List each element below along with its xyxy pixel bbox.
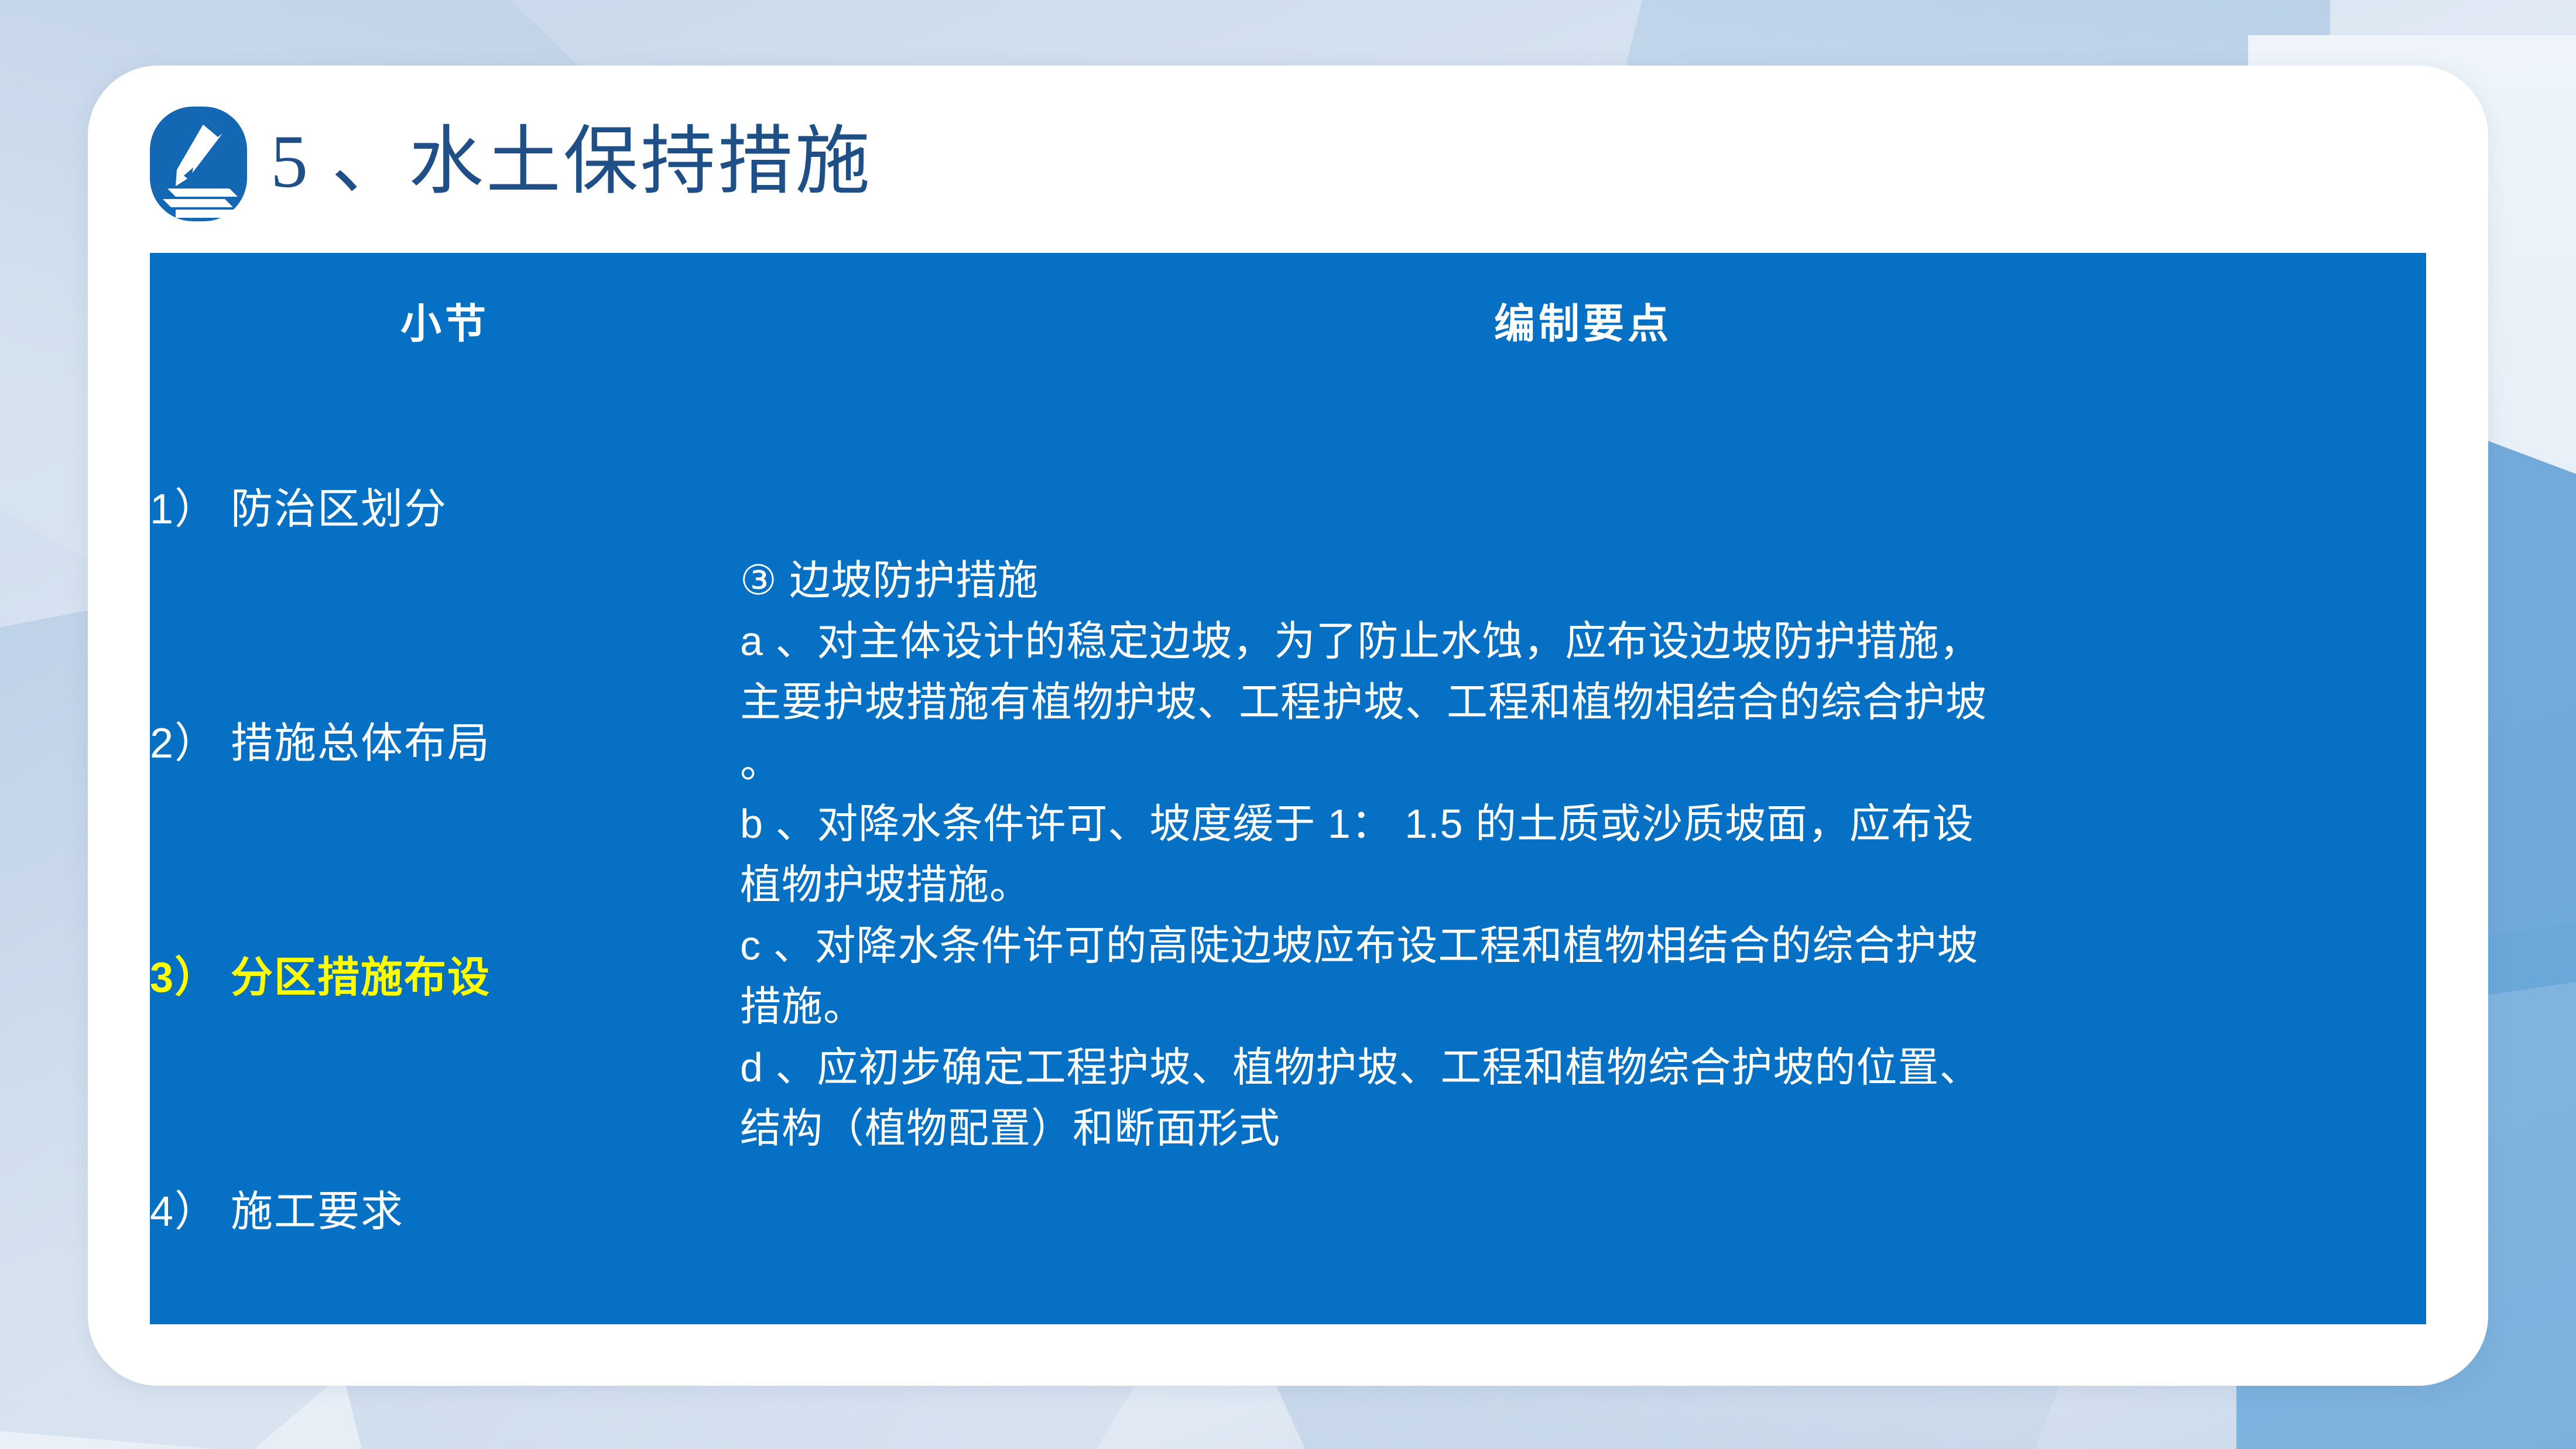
points-line: d 、应初步确定工程护坡、植物护坡、工程和植物综合护坡的位置、: [740, 1039, 2426, 1096]
points-line: a 、对主体设计的稳定边坡，为了防止水蚀，应布设边坡防护措施，: [740, 612, 2426, 670]
points-line: 措施。: [740, 978, 2426, 1035]
points-line: c 、对降水条件许可的高陡边坡应布设工程和植物相结合的综合护坡: [740, 917, 2426, 974]
sidebar-item-fenqucuoshibushe[interactable]: 3） 分区措施布设: [150, 856, 740, 1090]
sidebar-item-shigongyaoqiu[interactable]: 4） 施工要求: [150, 1090, 740, 1324]
page-title: 5 、水土保持措施: [270, 124, 872, 204]
points-table-wrapper: 小节 编制要点 1） 防治区划分 ③ 边坡防护措施 a 、对主体设计的稳定边坡，…: [150, 253, 2426, 1356]
points-table: 小节 编制要点 1） 防治区划分 ③ 边坡防护措施 a 、对主体设计的稳定边坡，…: [150, 253, 2426, 1324]
content-card: 5 、水土保持措施 小节 编制要点 1） 防治区划分 ③ 边坡防护措施: [88, 66, 2488, 1386]
points-line: 植物护坡措施。: [740, 856, 2426, 913]
points-line: 主要护坡措施有植物护坡、工程护坡、工程和植物相结合的综合护坡: [740, 673, 2426, 731]
points-content-cell: ③ 边坡防护措施 a 、对主体设计的稳定边坡，为了防止水蚀，应布设边坡防护措施，…: [740, 388, 2426, 1324]
table-header-row: 小节 编制要点: [150, 253, 2426, 388]
pencil-writing-icon: [150, 107, 247, 221]
points-line: b 、对降水条件许可、坡度缓于 1： 1.5 的土质或沙质坡面，应布设: [740, 795, 2426, 852]
slide-title-row: 5 、水土保持措施: [150, 107, 872, 221]
table-row: 1） 防治区划分 ③ 边坡防护措施 a 、对主体设计的稳定边坡，为了防止水蚀，应…: [150, 388, 2426, 622]
sidebar-item-cuoshizongtibuju[interactable]: 2） 措施总体布局: [150, 622, 740, 856]
table-header-points: 编制要点: [740, 253, 2426, 388]
slide-canvas: 5 、水土保持措施 小节 编制要点 1） 防治区划分 ③ 边坡防护措施: [0, 0, 2576, 1449]
points-line: ③ 边坡防护措施: [740, 551, 2426, 609]
sidebar-item-fangzhiqu[interactable]: 1） 防治区划分: [150, 388, 740, 622]
points-line: 结构（植物配置）和断面形式: [740, 1099, 2426, 1157]
points-line: 。: [740, 734, 2426, 792]
table-header-section: 小节: [150, 253, 740, 388]
